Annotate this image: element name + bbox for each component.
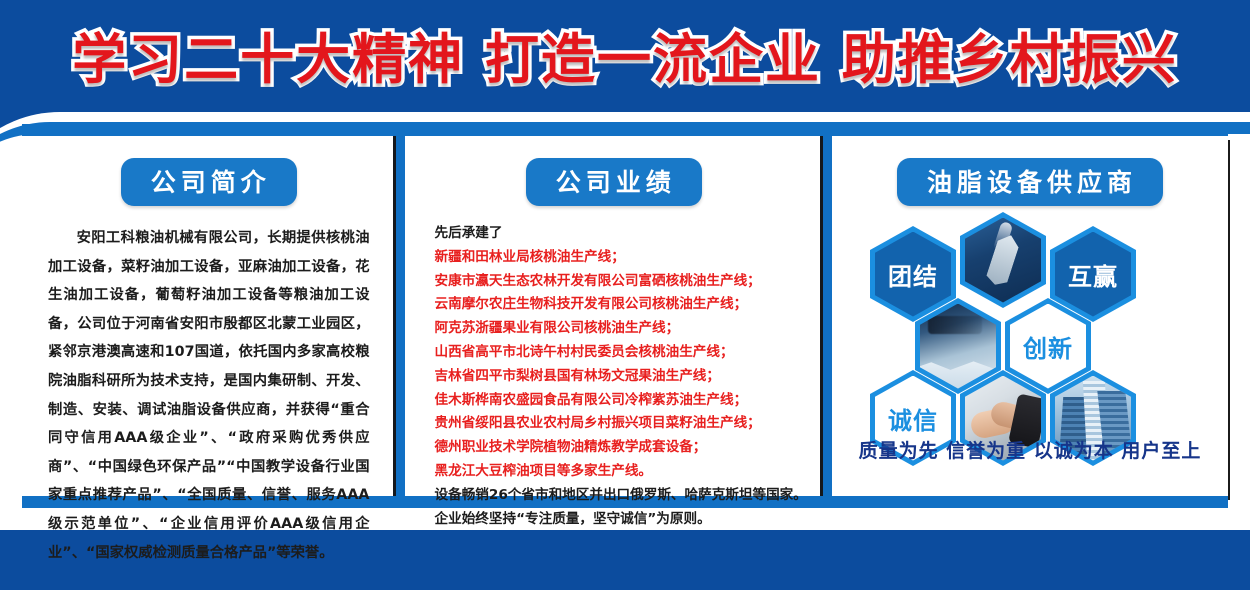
- panel-company-intro: 公司简介 安阳工科粮油机械有限公司，长期提供核桃油加工设备，菜籽油加工设备，亚麻…: [22, 136, 396, 496]
- panel-supplier-title-wrap: 油脂设备供应商: [832, 158, 1228, 206]
- performance-project: 云南摩尔农庄生物科技开发有限公司核桃油生产线；: [435, 293, 823, 317]
- page-title: 学习二十大精神 打造一流企业 助推乡村振兴: [72, 15, 1178, 94]
- panel-company-performance: 公司业绩 先后承建了 新疆和田林业局核桃油生产线； 安康市瀛天生态农林开发有限公…: [405, 136, 823, 496]
- ship-icon: [985, 232, 1022, 288]
- performance-project: 贵州省绥阳县农业农村局乡村振兴项目菜籽油生产线；: [435, 412, 823, 436]
- panel-intro-title-wrap: 公司简介: [22, 158, 396, 206]
- panel-performance-title-wrap: 公司业绩: [405, 158, 823, 206]
- hexagon-carrier-photo: [960, 212, 1046, 308]
- performance-project: 阿克苏浙疆果业有限公司核桃油生产线；: [435, 317, 823, 341]
- performance-project: 佳木斯桦南农盛园食品有限公司冷榨紫苏油生产线；: [435, 389, 823, 413]
- header-band: 学习二十大精神 打造一流企业 助推乡村振兴: [0, 0, 1250, 108]
- panels-container: 公司简介 安阳工科粮油机械有限公司，长期提供核桃油加工设备，菜籽油加工设备，亚麻…: [22, 136, 1228, 496]
- calligraphy-icon: [928, 316, 982, 334]
- hexagon-label: 互赢: [1068, 257, 1118, 292]
- performance-project: 新疆和田林业局核桃油生产线；: [435, 246, 823, 270]
- panel-supplier: 油脂设备供应商 团结: [832, 136, 1228, 496]
- panel-performance-body: 先后承建了 新疆和田林业局核桃油生产线； 安康市瀛天生态农林开发有限公司富硒核桃…: [435, 222, 823, 531]
- hexagon-label: 团结: [888, 257, 938, 292]
- panel-performance-title: 公司业绩: [526, 158, 702, 206]
- performance-project: 德州职业技术学院植物油精炼教学成套设备；: [435, 436, 823, 460]
- performance-project: 山西省高平市北诗午村村民委员会核桃油生产线；: [435, 341, 823, 365]
- performance-footer: 设备畅销26个省市和地区并出口俄罗斯、哈萨克斯坦等国家。: [435, 484, 823, 508]
- performance-project: 安康市瀛天生态农林开发有限公司富硒核桃油生产线；: [435, 270, 823, 294]
- supplier-slogan: 质量为先 信誉为重 以诚为本 用户至上: [832, 436, 1228, 463]
- panel-divider-1: [396, 136, 405, 496]
- performance-project: 吉林省四平市梨树县国有林场文冠果油生产线；: [435, 365, 823, 389]
- hexagon-cluster: 团结 互赢: [832, 212, 1228, 462]
- performance-footer: 企业始终坚持“专注质量，坚守诚信”为原则。: [435, 508, 823, 532]
- hexagon-label: 诚信: [888, 401, 938, 436]
- hexagon-label: 创新: [1023, 329, 1073, 364]
- panel-divider-2: [823, 136, 832, 496]
- panel-supplier-title: 油脂设备供应商: [897, 158, 1163, 206]
- poster-root: 学习二十大精神 打造一流企业 助推乡村振兴 公司简介 安阳工科粮油机械有限公司，…: [0, 0, 1250, 590]
- panel-intro-title: 公司简介: [121, 158, 297, 206]
- panel-intro-body: 安阳工科粮油机械有限公司，长期提供核桃油加工设备，菜籽油加工设备，亚麻油加工设备…: [48, 224, 370, 567]
- rail-top: [22, 124, 1228, 136]
- performance-lead: 先后承建了: [435, 222, 823, 246]
- performance-project: 黑龙江大豆榨油项目等多家生产线。: [435, 460, 823, 484]
